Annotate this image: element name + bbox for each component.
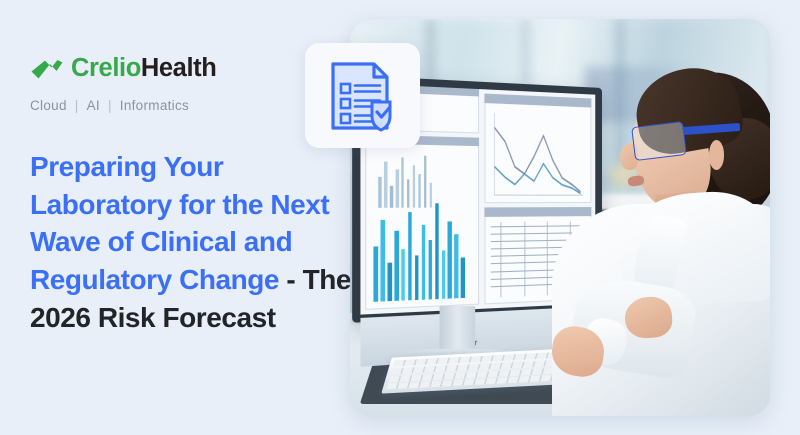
left-content-column: CrelioHealth Cloud | AI | Informatics (30, 52, 350, 113)
checkmark-zigzag-logo-icon (30, 58, 64, 80)
wordmark: CrelioHealth (71, 56, 216, 82)
logo-row: CrelioHealth (30, 52, 350, 86)
banner-headline: Preparing Your Laboratory for the Next W… (30, 148, 360, 336)
monitor-stand (439, 306, 475, 351)
tagline-item-informatics: Informatics (120, 98, 189, 113)
wordmark-health: Health (141, 54, 217, 82)
compliance-icon-badge (305, 43, 420, 148)
tagline-separator-1: | (75, 98, 79, 113)
safety-glasses-lens (631, 120, 687, 160)
wordmark-crelio: Crelio (71, 54, 141, 82)
scientist-figure (526, 51, 770, 416)
brand-lockup[interactable]: CrelioHealth Cloud | AI | Informatics (30, 52, 350, 113)
brand-tagline: Cloud | AI | Informatics (30, 98, 350, 113)
blog-banner: CrelioHealth Cloud | AI | Informatics Pr… (0, 0, 800, 435)
hand-far (624, 295, 674, 339)
dashboard-bar-chart-panel (366, 135, 480, 310)
tagline-separator-2: | (108, 98, 112, 113)
tagline-item-ai: AI (87, 98, 100, 113)
document-checklist-shield-icon (328, 60, 398, 132)
tagline-item-cloud: Cloud (30, 98, 67, 113)
